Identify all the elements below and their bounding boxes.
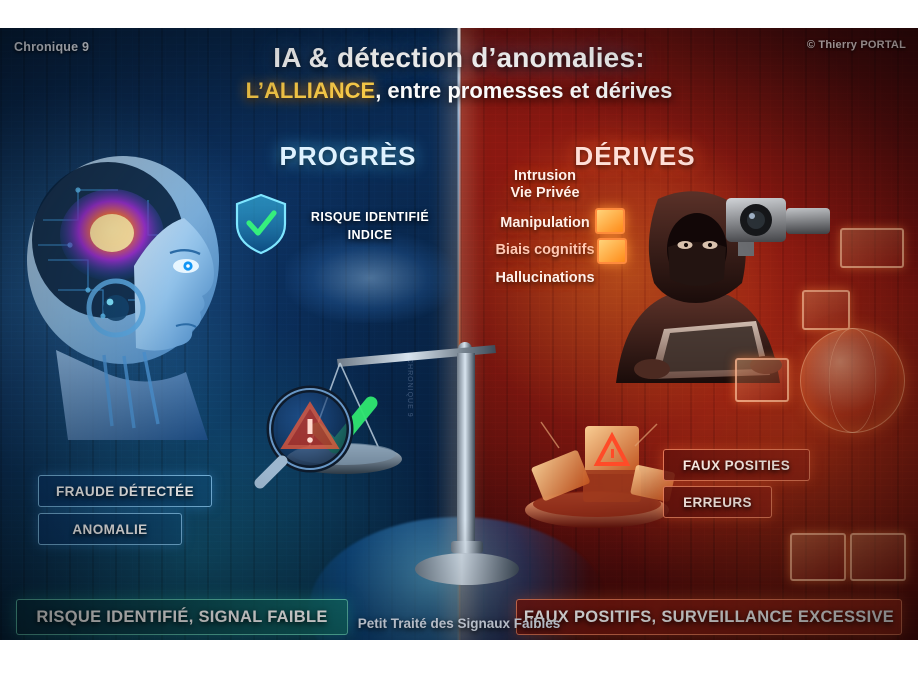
tag-anomalie: ANOMALIE bbox=[38, 513, 182, 545]
risk-item-hallucinations: Hallucinations bbox=[470, 270, 620, 287]
ai-robot-head-icon bbox=[8, 140, 258, 440]
subtitle-highlight: L’ALLIANCE bbox=[246, 78, 376, 103]
screenshot-canvas: RISQUE IDENTIFIÉ INDICE Chronique 9 © Th… bbox=[0, 0, 918, 689]
shield-label: RISQUE IDENTIFIÉ INDICE bbox=[300, 208, 440, 244]
shield-check-icon bbox=[235, 193, 287, 255]
device-icon-3 bbox=[735, 358, 789, 402]
handshake-icon bbox=[285, 233, 455, 323]
device-icon-4 bbox=[790, 533, 846, 581]
vertical-watermark: CHRONIQUE 9 bbox=[406, 358, 413, 418]
risk-item-intrusion: Intrusion Vie Privée bbox=[470, 168, 620, 203]
subtitle-rest: , entre promesses et dérives bbox=[375, 78, 672, 103]
device-icon-5 bbox=[850, 533, 906, 581]
overloaded-warning-cards-icon bbox=[515, 418, 680, 533]
network-globe-icon bbox=[800, 328, 905, 433]
surveillance-camera-icon bbox=[718, 188, 838, 258]
risk-line-1: Intrusion bbox=[470, 168, 620, 185]
shield-label-line1: RISQUE IDENTIFIÉ bbox=[300, 208, 440, 226]
column-heading-progres: PROGRÈS bbox=[228, 141, 468, 172]
page-title: IA & détection d’anomalies: bbox=[0, 42, 918, 74]
magnifier-warning-icon bbox=[252, 383, 362, 493]
page-subtitle: L’ALLIANCE, entre promesses et dérives bbox=[0, 78, 918, 104]
tag-faux-posities: FAUX POSITIES bbox=[663, 449, 810, 481]
title-block: IA & détection d’anomalies: L’ALLIANCE, … bbox=[0, 42, 918, 104]
tag-fraude-detectee: FRAUDE DÉTECTÉE bbox=[38, 475, 212, 507]
footer-caption: Petit Traité des Signaux Faibles bbox=[0, 616, 918, 631]
tag-erreurs: ERREURS bbox=[663, 486, 772, 518]
infographic-poster: RISQUE IDENTIFIÉ INDICE Chronique 9 © Th… bbox=[0, 28, 918, 640]
device-icon-2 bbox=[802, 290, 850, 330]
device-icon-1 bbox=[840, 228, 904, 268]
shield-label-line2: INDICE bbox=[300, 226, 440, 244]
risk-line-2: Vie Privée bbox=[470, 185, 620, 202]
